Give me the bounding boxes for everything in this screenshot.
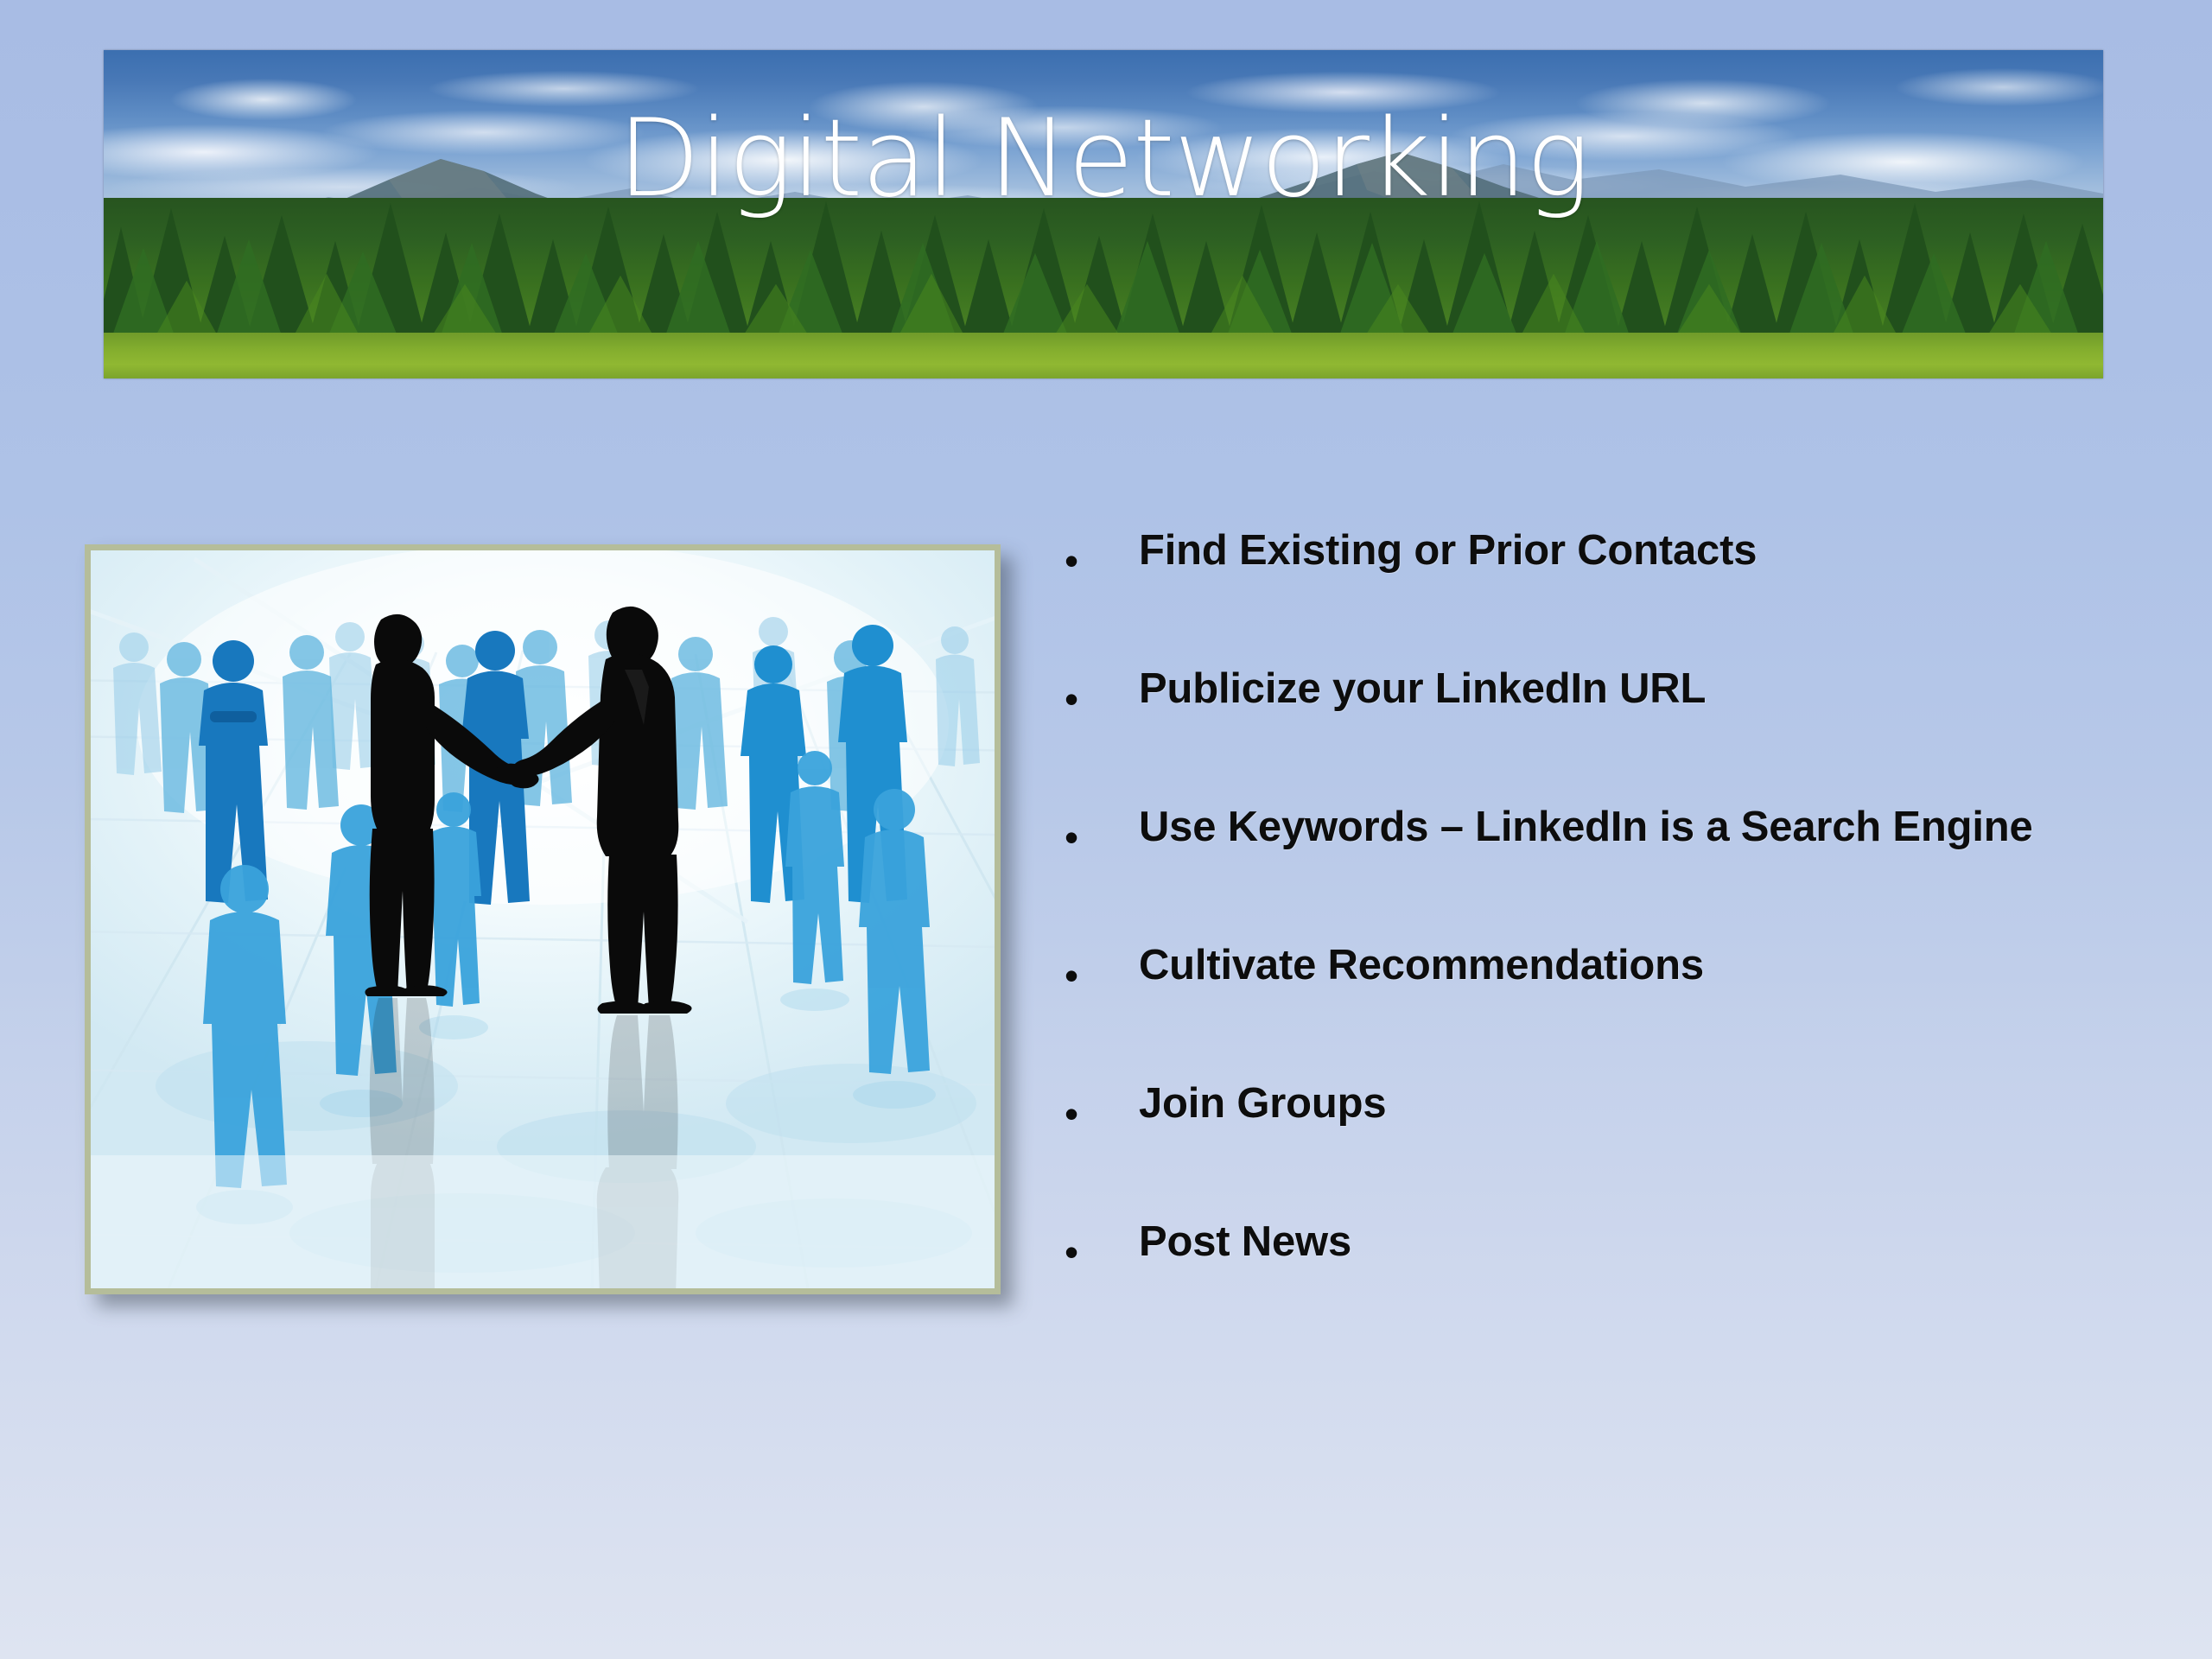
bullet-marker-icon: • xyxy=(1065,1082,1139,1134)
photo-handshake-figures xyxy=(91,550,995,1288)
list-item[interactable]: • Find Existing or Prior Contacts xyxy=(1065,529,2188,667)
bullet-marker-icon: • xyxy=(1065,529,1139,581)
networking-photo-frame xyxy=(85,544,1001,1294)
bullet-label: Use Keywords – LinkedIn is a Search Engi… xyxy=(1139,805,2188,849)
handshake-figure-right xyxy=(493,607,691,1014)
bullet-marker-icon: • xyxy=(1065,944,1139,995)
list-item[interactable]: • Publicize your LinkedIn URL xyxy=(1065,667,2188,805)
bullet-list: • Find Existing or Prior Contacts • Publ… xyxy=(1065,529,2188,1358)
bullet-marker-icon: • xyxy=(1065,667,1139,719)
bullet-marker-icon: • xyxy=(1065,805,1139,857)
list-item[interactable]: • Post News xyxy=(1065,1220,2188,1358)
bullet-marker-icon: • xyxy=(1065,1220,1139,1272)
handshake-figure-left xyxy=(365,614,538,996)
slide-title: Digital Networking xyxy=(104,50,2103,378)
slide-canvas: Digital Networking xyxy=(0,0,2212,1659)
list-item[interactable]: • Use Keywords – LinkedIn is a Search En… xyxy=(1065,805,2188,944)
list-item[interactable]: • Join Groups xyxy=(1065,1082,2188,1220)
bullet-label: Join Groups xyxy=(1139,1082,2188,1126)
bullet-label: Publicize your LinkedIn URL xyxy=(1139,667,2188,711)
title-banner-image: Digital Networking xyxy=(104,50,2103,378)
bullet-label: Post News xyxy=(1139,1220,2188,1264)
bullet-label: Cultivate Recommendations xyxy=(1139,944,2188,988)
bullet-label: Find Existing or Prior Contacts xyxy=(1139,529,2188,573)
list-item[interactable]: • Cultivate Recommendations xyxy=(1065,944,2188,1082)
networking-photo xyxy=(91,550,995,1288)
